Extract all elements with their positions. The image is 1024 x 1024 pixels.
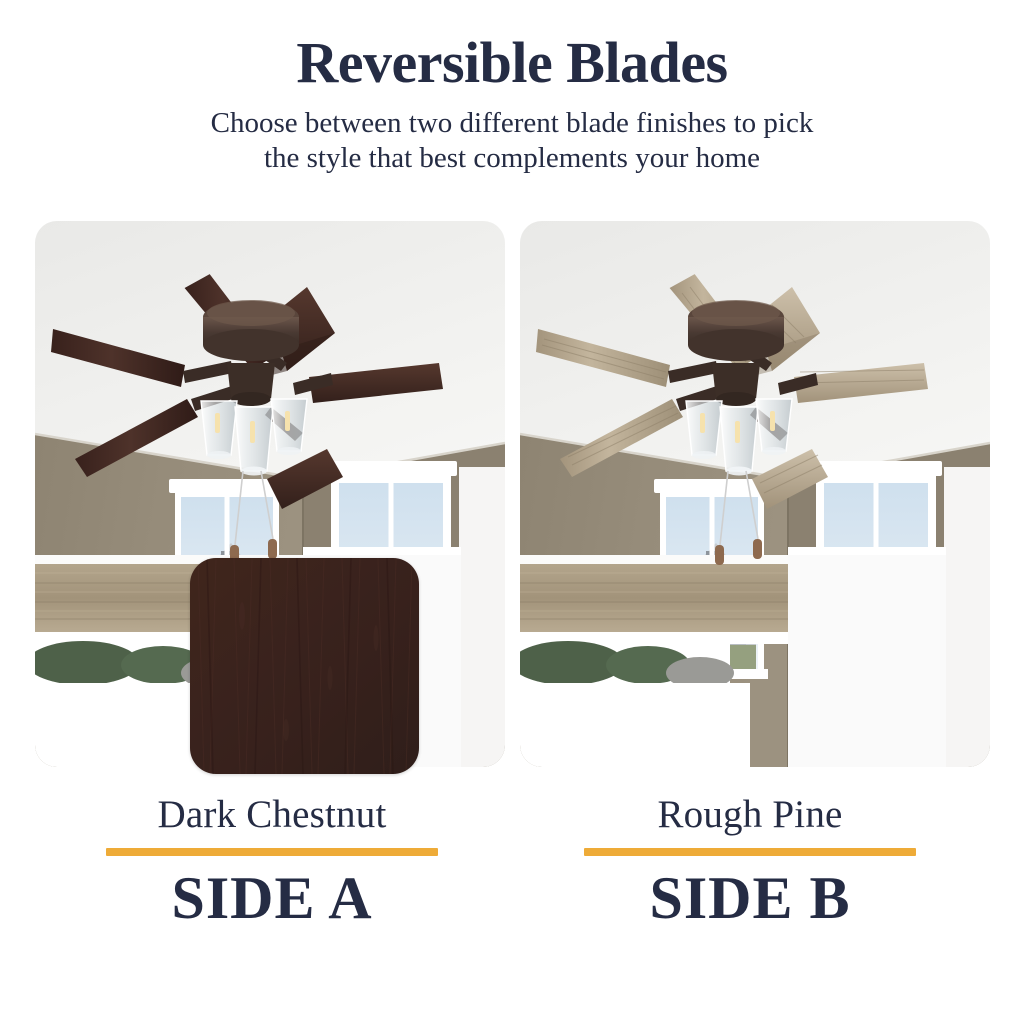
panel-side-a <box>35 221 505 767</box>
dark-chestnut-swatch <box>190 558 419 774</box>
room-scene-side-b <box>520 221 990 767</box>
subtitle-line-2: the style that best complements your hom… <box>108 141 916 176</box>
page-subtitle: Choose between two different blade finis… <box>0 106 1024 177</box>
reversible-blades-infographic: Reversible Blades Choose between two dif… <box>0 0 1024 1024</box>
panel-side-b <box>520 221 990 767</box>
comparison-panels <box>0 221 1024 767</box>
finish-name-side-a: Dark Chestnut <box>57 795 487 836</box>
room-photo-side-b <box>520 221 990 767</box>
dark-chestnut-texture <box>190 558 419 774</box>
side-label-b: SIDE B <box>535 867 965 930</box>
header: Reversible Blades Choose between two dif… <box>0 0 1024 177</box>
gold-divider-side-b <box>584 848 916 856</box>
finish-name-side-b: Rough Pine <box>535 795 965 836</box>
caption-side-a: Dark Chestnut SIDE A <box>57 795 487 930</box>
captions: Dark Chestnut SIDE A Rough Pine SIDE B <box>0 795 1024 995</box>
subtitle-line-1: Choose between two different blade finis… <box>211 107 814 139</box>
side-label-a: SIDE A <box>57 867 487 930</box>
page-title: Reversible Blades <box>0 34 1024 92</box>
caption-side-b: Rough Pine SIDE B <box>535 795 965 930</box>
gold-divider-side-a <box>106 848 438 856</box>
